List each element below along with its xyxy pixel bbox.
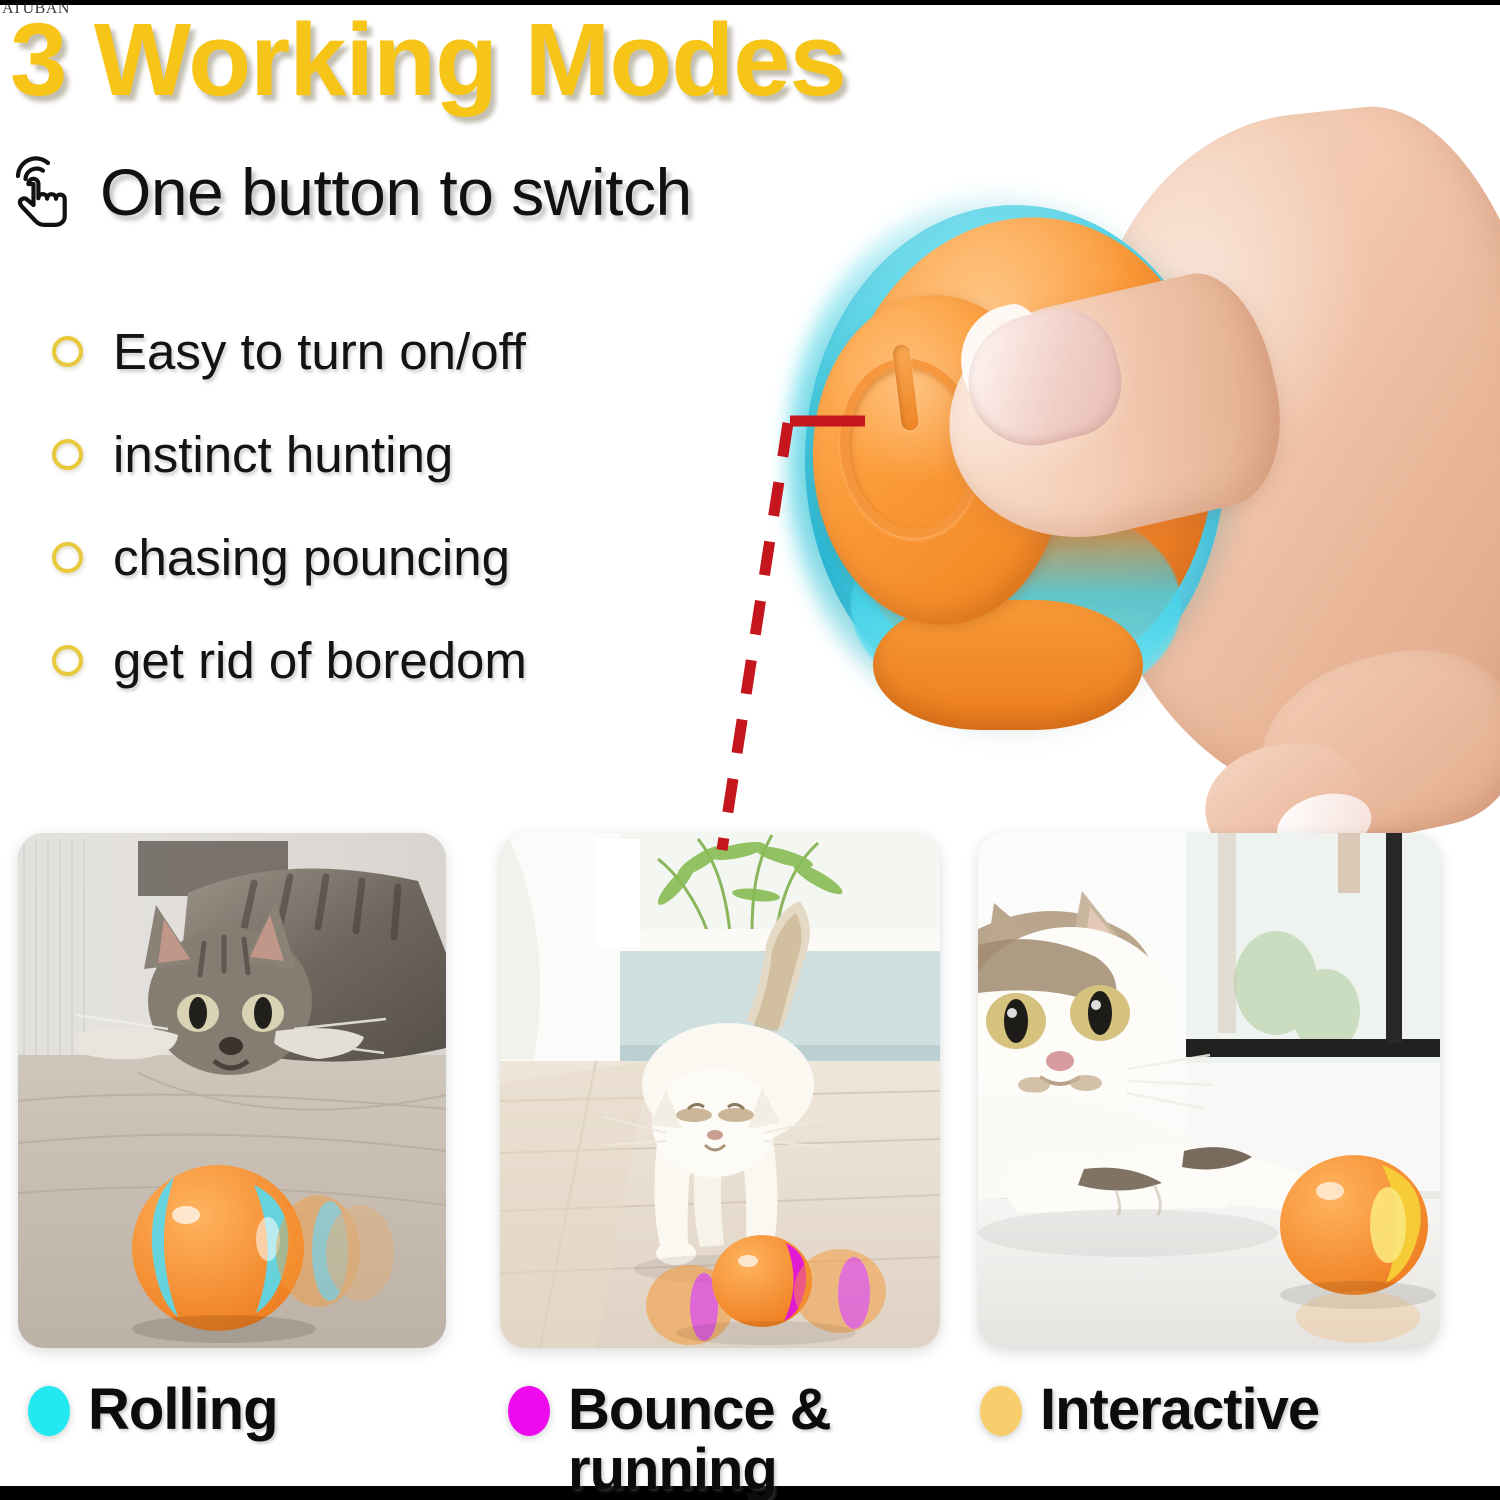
legend-label: Interactive xyxy=(1040,1380,1319,1440)
legend-dot-cyan-icon xyxy=(28,1386,70,1436)
tap-gesture-icon xyxy=(8,148,82,236)
bullet-circle-icon xyxy=(52,645,83,676)
legend-label: Rolling xyxy=(88,1380,278,1440)
mode-legend: Rolling Bounce & running Interactive xyxy=(0,1380,1500,1490)
feature-item: get rid of boredom xyxy=(52,609,712,712)
bullet-circle-icon xyxy=(52,336,83,367)
legend-item-bounce-running: Bounce & running xyxy=(508,1380,898,1500)
watermark-text: ATUBAN xyxy=(2,0,70,18)
feature-label: Easy to turn on/off xyxy=(113,322,526,381)
legend-dot-magenta-icon xyxy=(508,1386,550,1436)
legend-item-interactive: Interactive xyxy=(980,1380,1319,1440)
infographic-canvas: ATUBAN 3 Working Modes One button to swi… xyxy=(0,0,1500,1500)
feature-item: Easy to turn on/off xyxy=(52,300,712,403)
legend-label: Bounce & running xyxy=(568,1380,898,1500)
subtitle-row: One button to switch xyxy=(8,148,692,236)
legend-item-rolling: Rolling xyxy=(28,1380,278,1440)
feature-label: chasing pouncing xyxy=(113,528,510,587)
gallery-photo-2[interactable] xyxy=(500,833,940,1348)
photo-gallery xyxy=(0,833,1500,1353)
bullet-circle-icon xyxy=(52,542,83,573)
feature-label: get rid of boredom xyxy=(113,631,527,690)
gallery-photo-3[interactable] xyxy=(978,833,1440,1348)
feature-label: instinct hunting xyxy=(113,425,453,484)
callout-leader-line xyxy=(680,395,900,855)
feature-list: Easy to turn on/off instinct hunting cha… xyxy=(52,300,712,712)
subtitle-text: One button to switch xyxy=(100,154,692,230)
feature-item: chasing pouncing xyxy=(52,506,712,609)
page-title: 3 Working Modes xyxy=(10,8,846,111)
bullet-circle-icon xyxy=(52,439,83,470)
feature-item: instinct hunting xyxy=(52,403,712,506)
gallery-photo-1[interactable] xyxy=(18,833,446,1348)
legend-dot-yellow-icon xyxy=(980,1386,1022,1436)
